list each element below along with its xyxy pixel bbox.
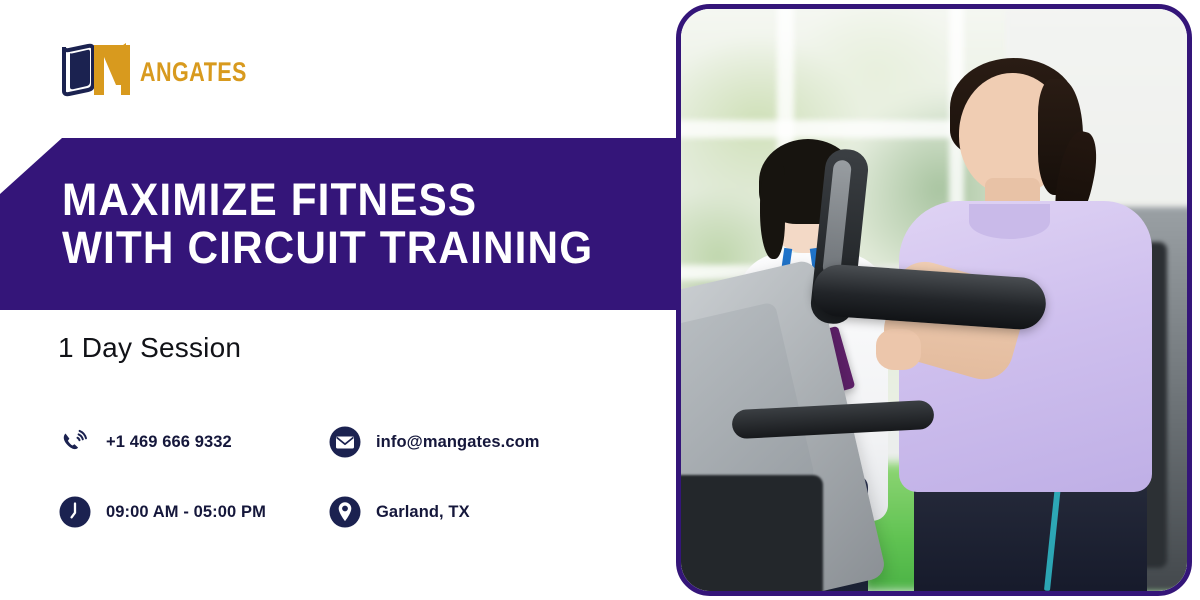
event-flyer: ANGATES MAXIMIZE FITNESS WITH CIRCUIT TR…: [0, 0, 1200, 600]
contact-email[interactable]: info@mangates.com: [328, 425, 618, 459]
brand-logo: ANGATES: [58, 38, 298, 100]
title-banner: MAXIMIZE FITNESS WITH CIRCUIT TRAINING: [0, 138, 688, 310]
brand-wordmark: ANGATES: [140, 59, 247, 86]
contact-hours: 09:00 AM - 05:00 PM: [58, 495, 328, 529]
session-subtitle: 1 Day Session: [58, 332, 241, 364]
open-book-logo-icon: [58, 39, 150, 99]
contact-details: +1 469 666 9332 info@mangates.com 09:00 …: [58, 425, 618, 529]
email-address: info@mangates.com: [376, 433, 540, 452]
location-name: Garland, TX: [376, 503, 470, 522]
event-photo-frame: [676, 4, 1192, 596]
gym-training-photo: [681, 9, 1187, 591]
phone-number: +1 469 666 9332: [106, 433, 232, 452]
clock-icon: [58, 495, 92, 529]
shirt-collar: [969, 204, 1050, 239]
page-title: MAXIMIZE FITNESS WITH CIRCUIT TRAINING: [62, 176, 593, 272]
session-hours: 09:00 AM - 05:00 PM: [106, 503, 266, 522]
console-base: [681, 475, 823, 591]
phone-ring-icon: [58, 425, 92, 459]
email-icon: [328, 425, 362, 459]
contact-phone[interactable]: +1 469 666 9332: [58, 425, 328, 459]
contact-location[interactable]: Garland, TX: [328, 495, 618, 529]
participant-hand: [876, 329, 922, 370]
trainer-hair: [760, 166, 785, 259]
location-pin-icon: [328, 495, 362, 529]
